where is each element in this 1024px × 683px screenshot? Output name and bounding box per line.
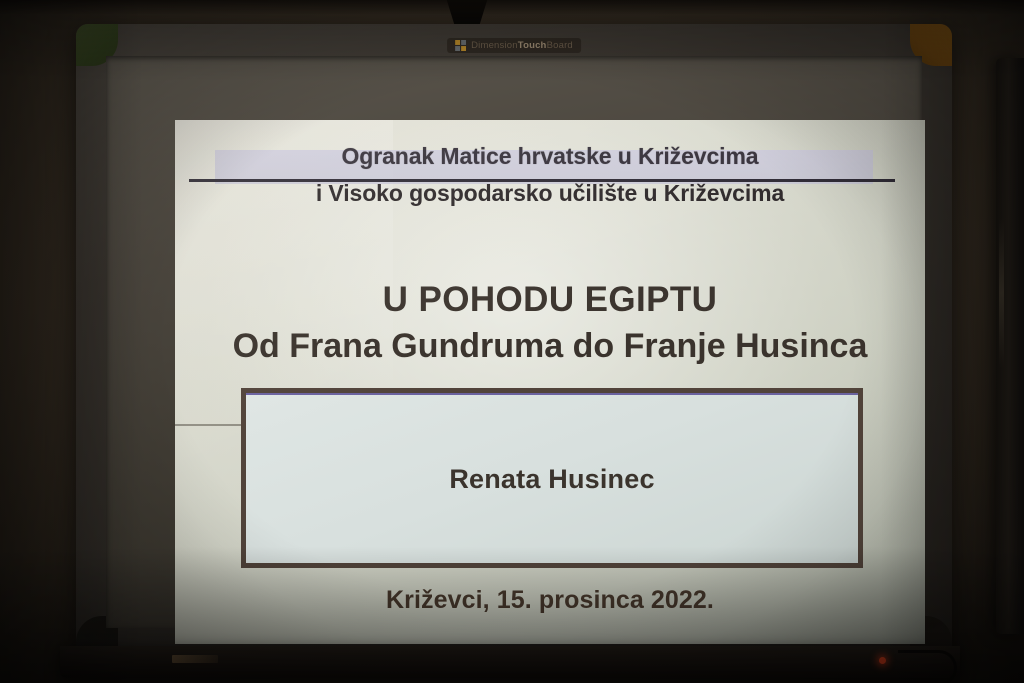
adjacent-board-edge — [996, 58, 1024, 634]
brand-suffix: Board — [547, 40, 573, 51]
adjacent-board-highlight — [999, 218, 1004, 368]
speaker-box: Renata Husinec — [241, 388, 863, 568]
projected-slide: Ogranak Matice hrvatske u Križevcima i V… — [175, 120, 925, 644]
speaker-name: Renata Husinec — [449, 464, 654, 495]
tray-label-icon — [172, 655, 218, 663]
header-line-1: Ogranak Matice hrvatske u Križevcima — [175, 142, 925, 171]
room-scene: DimensionTouchBoard Ogranak Matice hrvat… — [0, 0, 1024, 683]
slide-title: U POHODU EGIPTU — [175, 278, 925, 322]
speaker-box-inner: Renata Husinec — [246, 393, 858, 563]
brand-prefix: Dimension — [471, 40, 518, 51]
slide-footer-date: Križevci, 15. prosinca 2022. — [175, 586, 925, 615]
cable-icon — [898, 650, 957, 683]
whiteboard-pen-tray[interactable] — [60, 646, 960, 678]
whiteboard-surface[interactable]: Ogranak Matice hrvatske u Križevcima i V… — [106, 56, 922, 628]
whiteboard-brand-text: DimensionTouchBoard — [471, 40, 573, 51]
whiteboard-brand-plate: DimensionTouchBoard — [447, 38, 581, 53]
power-led-icon — [879, 657, 886, 664]
header-line-2: i Visoko gospodarsko učilište u Križevci… — [175, 178, 925, 208]
slide-subtitle: Od Frana Gundruma do Franje Husinca — [175, 324, 925, 368]
interactive-whiteboard: DimensionTouchBoard Ogranak Matice hrvat… — [76, 24, 952, 658]
brand-logo-icon — [455, 40, 466, 51]
ceiling-shadow — [0, 0, 1024, 14]
brand-name: Touch — [518, 40, 547, 51]
slide-title-block: U POHODU EGIPTU Od Frana Gundruma do Fra… — [175, 278, 925, 368]
slide-header: Ogranak Matice hrvatske u Križevcima i V… — [175, 142, 925, 208]
